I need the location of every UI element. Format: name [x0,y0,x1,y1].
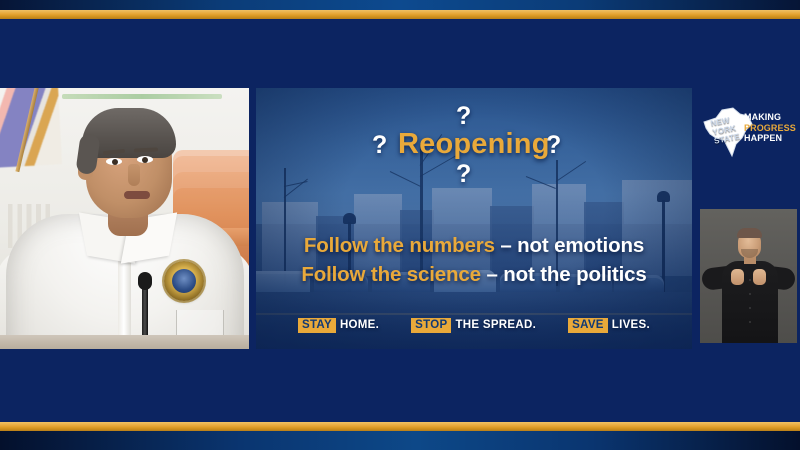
slide-message-line-1-gold: Follow the numbers [304,234,495,257]
slide-message-line-2-gold: Follow the science [301,263,481,286]
logo-tagline-making: MAKING [744,112,800,123]
asl-interpreter-feed[interactable] [700,209,797,343]
slogan-stop-the-spread: STOP THE SPREAD. [411,318,536,333]
question-mark-icon-top: ? [456,102,471,131]
slide-message-line-2-white: – not the politics [481,263,647,286]
desk-surface [0,335,249,349]
gold-accent-bar-top [0,10,800,19]
slogan-text-home: HOME. [340,319,379,331]
question-mark-icon-left: ? [372,131,387,160]
asl-hair [737,228,762,238]
slogan-save-lives: SAVE LIVES. [568,318,650,333]
slogan-stay-home: STAY HOME. [298,318,379,333]
slide-headline: Reopening [398,128,550,161]
asl-shirt-button [749,307,751,309]
broadcast-frame: ? ? ? ? Reopening Follow the numbers – n… [0,0,800,450]
slogan-bar: STAY HOME. STOP THE SPREAD. SAVE LIVES. [256,318,692,333]
logo-tagline: MAKING PROGRESS HAPPEN [744,112,800,144]
slogan-text-the-spread: THE SPREAD. [455,319,536,331]
speaker-eye-right [137,156,153,163]
asl-left-hand [731,269,744,285]
new-york-state-logo: NEW YORK STATE MAKING PROGRESS HAPPEN [700,100,796,164]
speaker-mouth [124,191,150,199]
speaker-nose [128,164,140,186]
asl-shirt-button [749,279,751,281]
slogan-highlight-stay: STAY [298,318,336,333]
speaker-video-feed[interactable] [0,88,249,349]
speaker-hair [82,108,176,158]
gold-accent-bar-bottom [0,422,800,431]
slide-message-line-1-white: – not emotions [495,234,644,257]
asl-right-hand [753,269,766,285]
asl-shirt-button [749,293,751,295]
frame-bottom-gradient [0,431,800,450]
slide-text-layer: ? ? ? ? Reopening Follow the numbers – n… [256,88,692,349]
slogan-text-lives: LIVES. [612,319,650,331]
slide-message-line-1: Follow the numbers – not emotions [256,234,692,258]
speaker-person [0,88,249,349]
slogan-highlight-stop: STOP [411,318,451,333]
speaker-eye-left [106,158,122,165]
presentation-slide[interactable]: ? ? ? ? Reopening Follow the numbers – n… [256,88,692,349]
slogan-highlight-save: SAVE [568,318,608,333]
state-seal-patch [164,261,204,301]
logo-tagline-progress: PROGRESS [744,123,800,134]
slide-message-line-2: Follow the science – not the politics [256,263,692,287]
asl-shirt-button [749,321,751,323]
logo-tagline-happen: HAPPEN [744,133,800,144]
question-mark-icon-bottom: ? [456,160,471,189]
